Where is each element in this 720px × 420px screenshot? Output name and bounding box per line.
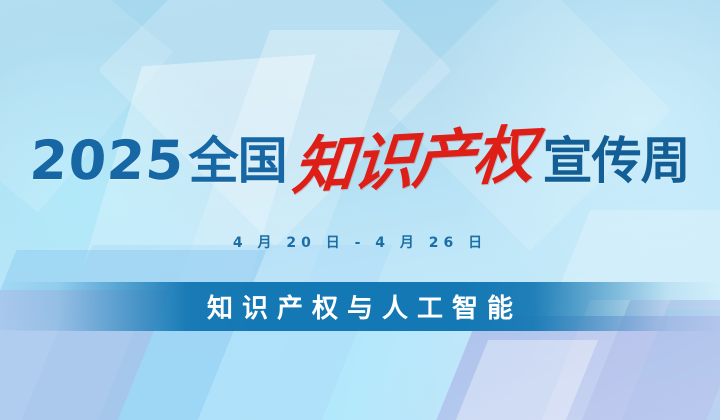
headline-publicity-week: 宣传周 (543, 136, 690, 186)
date-range: 4 月 20 日 - 4 月 26 日 (0, 232, 720, 252)
headline-calligraphy-intellectual-property: 知识产权 (290, 124, 535, 199)
headline-year: 2025 (28, 134, 186, 188)
headline: 2025 全国 知识产权 宣传周 (0, 124, 720, 198)
theme-band-text: 知识产权与人工智能 (0, 282, 720, 331)
ip-week-banner: 2025 全国 知识产权 宣传周 4 月 20 日 - 4 月 26 日 知识产… (0, 0, 720, 420)
headline-national: 全国 (189, 136, 287, 186)
banner-content: 2025 全国 知识产权 宣传周 4 月 20 日 - 4 月 26 日 知识产… (0, 0, 720, 420)
